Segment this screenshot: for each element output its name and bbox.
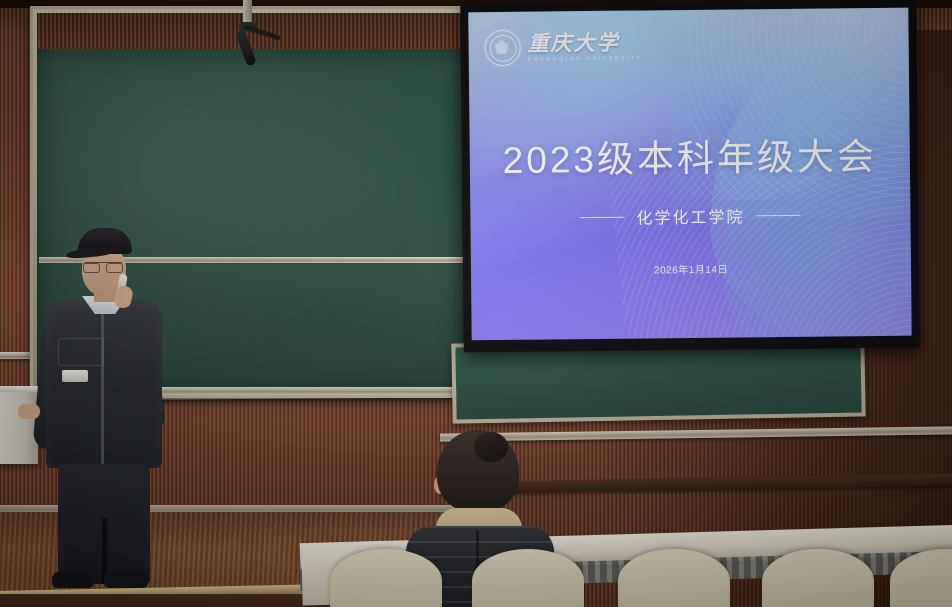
glasses-icon — [83, 262, 123, 271]
chair-back — [618, 549, 730, 607]
logo-english-name: CHONGQING UNIVERSITY — [528, 56, 643, 63]
slide-subtitle: 化学化工学院 — [636, 203, 744, 228]
slide-title: 2023级本科年级大会 — [470, 126, 911, 185]
presenter-jacket-zip — [101, 306, 104, 466]
lecture-hall-photo: 重庆大学 CHONGQING UNIVERSITY 2023级本科年级大会 化学… — [0, 0, 952, 607]
slide-content: 2023级本科年级大会 化学化工学院 2026年1月14日 — [470, 126, 912, 279]
presenter-jacket-pocket — [58, 338, 104, 366]
slide-subtitle-row: 化学化工学院 — [470, 202, 910, 231]
logo-text-block: 重庆大学 CHONGQING UNIVERSITY — [527, 31, 642, 62]
presenter-jacket — [46, 300, 162, 468]
subtitle-rule-left — [580, 216, 624, 217]
projection-screen: 重庆大学 CHONGQING UNIVERSITY 2023级本科年级大会 化学… — [460, 0, 920, 352]
attendee-hair-bun — [474, 432, 508, 462]
chongqing-university-crest-icon — [484, 30, 520, 66]
chair-back — [762, 549, 874, 607]
university-logo: 重庆大学 CHONGQING UNIVERSITY — [484, 28, 642, 66]
chair-back — [472, 549, 584, 607]
presenter-figure — [22, 228, 172, 588]
presenter-shoe — [52, 572, 94, 588]
subtitle-rule-right — [756, 214, 800, 215]
chair-back — [330, 549, 442, 607]
slide-surface: 重庆大学 CHONGQING UNIVERSITY 2023级本科年级大会 化学… — [468, 8, 911, 341]
presenter-shoe — [104, 570, 148, 588]
logo-chinese-name: 重庆大学 — [527, 31, 642, 54]
presenter-name-badge — [62, 370, 88, 382]
presenter-left-hand — [18, 404, 40, 419]
